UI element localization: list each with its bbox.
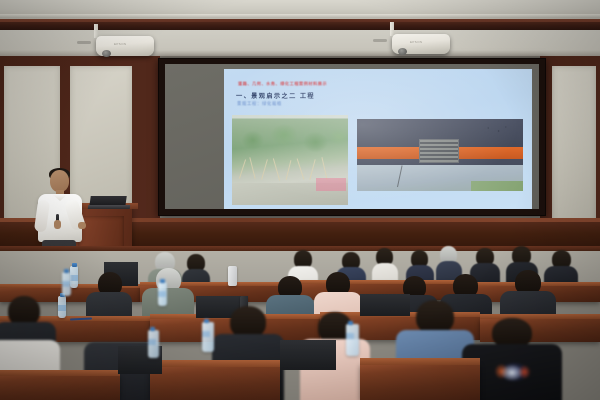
bottle-cap — [204, 319, 209, 323]
projector-lens — [398, 48, 407, 55]
bottle-label — [62, 281, 70, 287]
bottle-1 — [70, 266, 78, 288]
bottle-2 — [58, 296, 66, 318]
bottle-label — [346, 333, 354, 339]
bottle-6 — [346, 324, 359, 356]
presenter-left-hand — [54, 220, 61, 229]
desk-front-left-top — [0, 370, 120, 376]
bottle-label — [70, 275, 78, 281]
birds-icon — [483, 125, 509, 135]
desk-front-center-top — [150, 360, 280, 367]
bottle-5 — [202, 322, 214, 352]
desk-front-right — [360, 364, 480, 400]
projector-lens — [102, 50, 111, 57]
attendee-head — [416, 300, 454, 334]
ceiling-molding — [0, 14, 600, 18]
slide-photo-trees — [232, 115, 348, 205]
bottle-cap — [160, 279, 165, 283]
presenter-head — [50, 170, 69, 192]
bottle-label — [148, 339, 156, 345]
presenter-right-hand — [78, 222, 86, 229]
bottle-cap — [348, 321, 353, 325]
slide-photo-building — [357, 119, 523, 191]
desk-front-right-top — [360, 358, 480, 365]
bottle-cap — [150, 327, 155, 331]
bottle-label — [158, 291, 166, 297]
tumbler-1 — [228, 266, 237, 286]
slide-photo-tag — [316, 178, 346, 191]
bottle-3 — [62, 272, 71, 296]
laptop-base — [88, 205, 131, 209]
conference-room-photo: 道路、几何、水务、绿化工程案例材料展示 一、景观启示之二 工程 景观工程：绿化栽… — [0, 0, 600, 400]
projector-brand-label: EPSON — [410, 40, 423, 44]
bottle-label — [202, 331, 210, 337]
desk-front-left — [0, 374, 120, 400]
slide-title-text: 道路、几何、水务、绿化工程案例材料展示 — [238, 81, 327, 87]
projected-slide: 道路、几何、水务、绿化工程案例材料展示 一、景观启示之二 工程 景观工程：绿化栽… — [224, 69, 532, 209]
attendee-shirt-graphic — [488, 356, 540, 388]
bottle-cap — [72, 263, 77, 267]
ceiling-beam-highlight — [0, 19, 600, 22]
slide-heading-text: 一、景观启示之二 工程 — [236, 91, 315, 100]
projector-brand-label: EPSON — [114, 42, 127, 46]
bottle-7 — [158, 282, 167, 306]
bottle-label — [58, 305, 66, 311]
projector-vent — [77, 41, 91, 44]
building-vent-grille — [419, 139, 459, 163]
chair-front-2 — [280, 340, 336, 370]
bottle-cap — [64, 269, 69, 273]
desk-front-center — [150, 366, 280, 400]
projector-vent — [373, 39, 387, 42]
bottle-4 — [148, 330, 159, 358]
slide-subtitle-text: 景观工程：绿化栽植 — [237, 101, 282, 107]
building-grass-strip — [471, 181, 523, 191]
wall-panel-3 — [552, 66, 596, 232]
